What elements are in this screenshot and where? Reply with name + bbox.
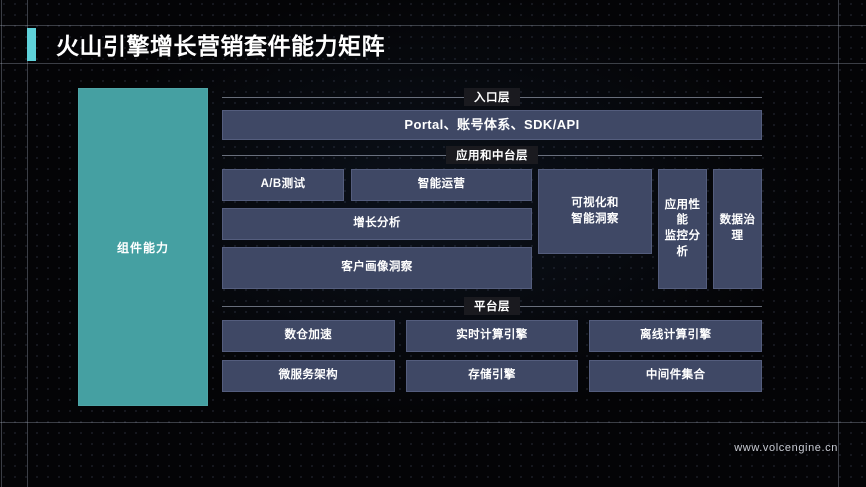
box-label: 智能运营 [418, 177, 466, 193]
footer-website-url: www.volcengine.cn [734, 442, 838, 454]
box-label: 应用性能 监控分析 [659, 198, 706, 260]
box-label: A/B测试 [261, 177, 306, 193]
box-label: 可视化和 智能洞察 [571, 196, 619, 227]
grid-line-horizontal-bottom [0, 422, 866, 423]
box-visualization-smart-insight[interactable]: 可视化和 智能洞察 [538, 169, 652, 254]
box-label: 中间件集合 [646, 368, 706, 384]
box-label: 微服务架构 [279, 368, 339, 384]
application-left-column: A/B测试 智能运营 增长分析 客户画像洞察 [222, 169, 532, 289]
box-label: 离线计算引擎 [640, 328, 711, 344]
page-title: 火山引擎增长营销套件能力矩阵 [56, 27, 385, 61]
box-customer-profile-insight[interactable]: 客户画像洞察 [222, 247, 532, 289]
entry-layer-row: Portal、账号体系、SDK/API [222, 110, 762, 140]
box-data-governance[interactable]: 数据治理 [713, 169, 762, 289]
box-offline-compute-engine[interactable]: 离线计算引擎 [589, 320, 762, 352]
box-warehouse-acceleration[interactable]: 数仓加速 [222, 320, 395, 352]
platform-layer-grid: 数仓加速 实时计算引擎 离线计算引擎 微服务架构 存储引擎 中间件集合 [222, 320, 762, 392]
component-capability-label: 组件能力 [117, 239, 169, 256]
box-portal-account-sdk[interactable]: Portal、账号体系、SDK/API [222, 110, 762, 140]
application-left-row-1: A/B测试 智能运营 [222, 169, 532, 201]
box-label: 增长分析 [353, 216, 401, 232]
section-title-platform: 平台层 [464, 297, 520, 315]
component-capability-panel[interactable]: 组件能力 [78, 88, 208, 406]
grid-line-vertical-far-left [1, 0, 2, 487]
grid-line-vertical-left [27, 0, 28, 487]
box-label: Portal、账号体系、SDK/API [404, 116, 579, 134]
section-header-platform: 平台层 [222, 297, 762, 314]
capability-matrix: 入口层 Portal、账号体系、SDK/API 应用和中台层 A/B测试 智能运… [222, 88, 762, 406]
box-middleware-collection[interactable]: 中间件集合 [589, 360, 762, 392]
section-title-application: 应用和中台层 [446, 146, 538, 164]
box-realtime-compute-engine[interactable]: 实时计算引擎 [406, 320, 579, 352]
application-tall-column-group: 应用性能 监控分析 数据治理 [658, 169, 762, 289]
section-title-entry: 入口层 [464, 88, 520, 106]
section-header-entry: 入口层 [222, 88, 762, 105]
box-apm-monitoring[interactable]: 应用性能 监控分析 [658, 169, 707, 289]
box-label: 数据治理 [714, 213, 761, 244]
box-label: 实时计算引擎 [456, 328, 527, 344]
grid-line-horizontal-title [0, 63, 866, 64]
box-label: 存储引擎 [468, 368, 516, 384]
grid-line-vertical-right [838, 0, 839, 487]
box-label: 数仓加速 [285, 328, 333, 344]
slide-canvas: 火山引擎增长营销套件能力矩阵 组件能力 入口层 Portal、账号体系、SDK/… [0, 0, 866, 487]
box-growth-analytics[interactable]: 增长分析 [222, 208, 532, 240]
box-ab-testing[interactable]: A/B测试 [222, 169, 344, 201]
box-microservice-architecture[interactable]: 微服务架构 [222, 360, 395, 392]
box-smart-operations[interactable]: 智能运营 [351, 169, 532, 201]
slide-header: 火山引擎增长营销套件能力矩阵 [0, 25, 866, 63]
box-label: 客户画像洞察 [341, 260, 412, 276]
section-header-application: 应用和中台层 [222, 146, 762, 163]
header-accent-bar [27, 28, 36, 61]
application-layer-grid: A/B测试 智能运营 增长分析 客户画像洞察 可视化和 智能洞察 [222, 169, 762, 289]
box-storage-engine[interactable]: 存储引擎 [406, 360, 579, 392]
